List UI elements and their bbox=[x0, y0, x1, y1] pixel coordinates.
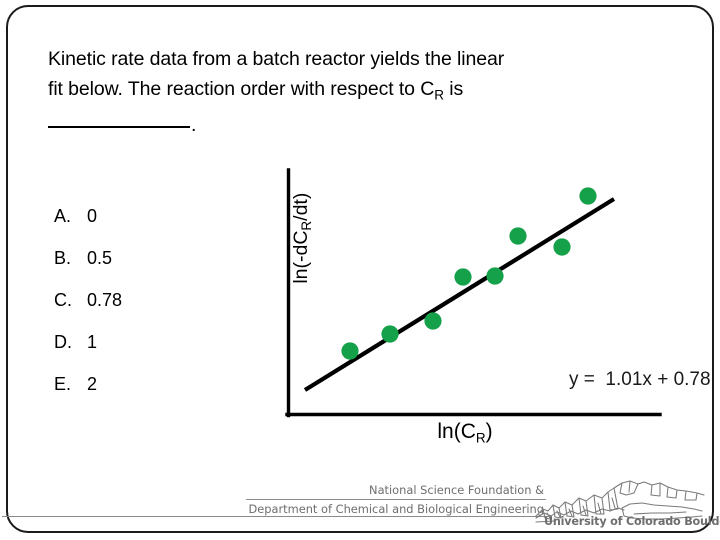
option-c-key: C. bbox=[54, 290, 82, 311]
option-a[interactable]: A. 0 bbox=[54, 206, 234, 248]
data-point bbox=[341, 342, 358, 359]
option-d-key: D. bbox=[54, 332, 82, 353]
answer-options-list: A. 0 B. 0.5 C. 0.78 D. 1 E. 2 bbox=[54, 206, 234, 416]
option-e[interactable]: E. 2 bbox=[54, 374, 234, 416]
question-period: . bbox=[191, 114, 196, 136]
y-axis-label-suffix: /dt) bbox=[290, 193, 312, 221]
x-axis-label-prefix: ln(C bbox=[437, 420, 476, 443]
option-e-value: 2 bbox=[87, 374, 97, 395]
funding-line-1: National Science Foundation & bbox=[246, 482, 546, 500]
slide: Kinetic rate data from a batch reactor y… bbox=[0, 0, 720, 540]
data-point bbox=[424, 312, 441, 329]
university-name: University of Colorado Boulder bbox=[544, 515, 720, 528]
question-line-2-suffix: is bbox=[444, 78, 463, 100]
subscript-r: R bbox=[434, 87, 444, 102]
option-b[interactable]: B. 0.5 bbox=[54, 248, 234, 290]
question-line-1: Kinetic rate data from a batch reactor y… bbox=[48, 48, 504, 70]
fit-line bbox=[305, 199, 614, 390]
answer-blank bbox=[48, 126, 190, 128]
x-axis-label-suffix: ) bbox=[486, 420, 493, 443]
option-b-key: B. bbox=[54, 248, 82, 269]
question-line-2-prefix: fit below. The reaction order with respe… bbox=[48, 78, 434, 100]
data-points bbox=[341, 187, 596, 359]
y-axis-label: ln(-dCR/dt) bbox=[290, 158, 314, 318]
data-point bbox=[579, 187, 596, 204]
footer: National Science Foundation & Department… bbox=[246, 482, 706, 534]
question-text: Kinetic rate data from a batch reactor y… bbox=[48, 44, 673, 140]
option-c[interactable]: C. 0.78 bbox=[54, 290, 234, 332]
x-axis-label: ln(CR) bbox=[370, 420, 560, 445]
fit-equation-label: y = 1.01x + 0.78 bbox=[569, 369, 711, 391]
option-a-key: A. bbox=[54, 206, 82, 227]
option-e-key: E. bbox=[54, 374, 82, 395]
option-c-value: 0.78 bbox=[87, 290, 122, 311]
option-d[interactable]: D. 1 bbox=[54, 332, 234, 374]
funding-line-2: Department of Chemical and Biological En… bbox=[246, 500, 546, 517]
option-b-value: 0.5 bbox=[87, 248, 112, 269]
data-point bbox=[553, 238, 570, 255]
option-a-value: 0 bbox=[87, 206, 97, 227]
footer-divider bbox=[2, 516, 552, 517]
y-axis-label-subscript: R bbox=[299, 221, 314, 231]
data-point bbox=[509, 227, 526, 244]
x-axis-label-subscript: R bbox=[476, 430, 486, 445]
data-point bbox=[381, 325, 398, 342]
data-point bbox=[454, 268, 471, 285]
y-axis-label-prefix: ln(-dC bbox=[290, 231, 312, 284]
data-point bbox=[486, 267, 503, 284]
option-d-value: 1 bbox=[87, 332, 97, 353]
funding-credit: National Science Foundation & Department… bbox=[246, 482, 546, 517]
